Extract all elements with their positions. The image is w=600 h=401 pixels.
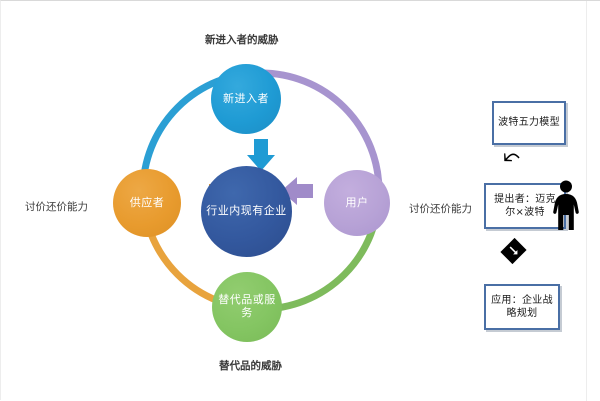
caption-threat-of-new-entrants: 新进入者的威胁 [205,32,279,47]
side-box-application-text: 应用：企业战略规划 [486,294,558,321]
slide-canvas: 新进入者 供应者 用户 替代品或服务 行业内现有企业 新进入者的威胁 讨价还价能… [0,0,600,400]
caption-threat-of-substitutes: 替代品的威胁 [219,358,282,373]
caption-buyer-bargaining-power: 讨价还价能力 [409,201,472,216]
force-node-center-label: 行业内现有企业 [203,205,290,218]
force-node-substitutes[interactable]: 替代品或服务 [212,272,282,342]
arrow-down-left-icon: ⤷ [497,144,527,174]
porter-five-forces-diagram: 新进入者 供应者 用户 替代品或服务 行业内现有企业 新进入者的威胁 讨价还价能… [1,1,471,401]
caption-supplier-bargaining-power: 讨价还价能力 [25,199,88,214]
force-node-customers-label: 用户 [343,197,372,210]
force-node-center-industry[interactable]: 行业内现有企业 [201,166,292,257]
person-icon [551,179,581,231]
side-box-model-name-text: 波特五力模型 [495,116,563,130]
arrow-down-right-icon: ➞ [500,238,526,264]
force-node-new-entrants[interactable]: 新进入者 [211,64,281,134]
force-node-suppliers-label: 供应者 [127,197,168,210]
force-node-suppliers[interactable]: 供应者 [113,169,181,237]
side-box-application[interactable]: 应用：企业战略规划 [484,284,560,330]
force-node-substitutes-label: 替代品或服务 [212,294,282,319]
force-node-customers[interactable]: 用户 [324,170,390,236]
side-box-model-name[interactable]: 波特五力模型 [492,101,566,145]
info-side-panel: 波特五力模型 ⤷ 提出者：迈克尔×波特 ➞ 应用：企业战略规划 [479,91,591,351]
force-node-new-entrants-label: 新进入者 [220,93,272,106]
